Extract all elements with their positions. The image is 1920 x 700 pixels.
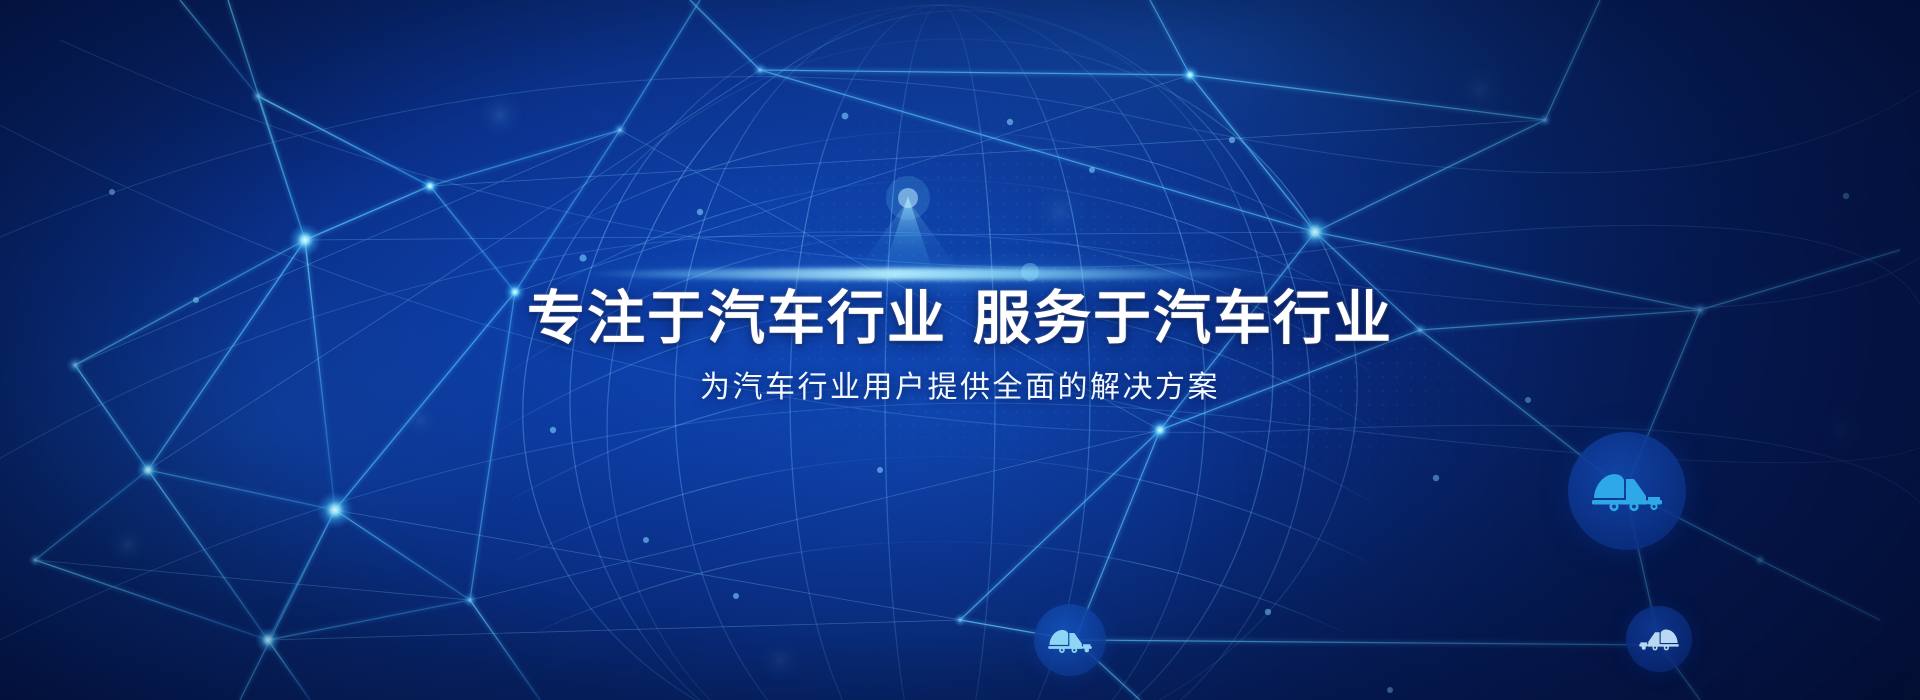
truck-icon-small bbox=[1638, 626, 1680, 652]
hero-banner: 专注于汽车行业服务于汽车行业 为汽车行业用户提供全面的解决方案 bbox=[0, 0, 1920, 700]
truck-badge-large bbox=[1568, 432, 1686, 550]
page-title: 专注于汽车行业服务于汽车行业 bbox=[0, 288, 1920, 348]
page-subtitle: 为汽车行业用户提供全面的解决方案 bbox=[0, 370, 1920, 406]
truck-icon-large bbox=[1590, 468, 1664, 514]
headline-part-2: 服务于汽车行业 bbox=[973, 284, 1393, 352]
truck-badge-small bbox=[1626, 606, 1692, 672]
headline-part-1: 专注于汽车行业 bbox=[527, 284, 947, 352]
truck-badge-medium bbox=[1034, 604, 1106, 676]
truck-icon-medium bbox=[1047, 626, 1093, 655]
hero-text-block: 专注于汽车行业服务于汽车行业 为汽车行业用户提供全面的解决方案 bbox=[0, 288, 1920, 406]
